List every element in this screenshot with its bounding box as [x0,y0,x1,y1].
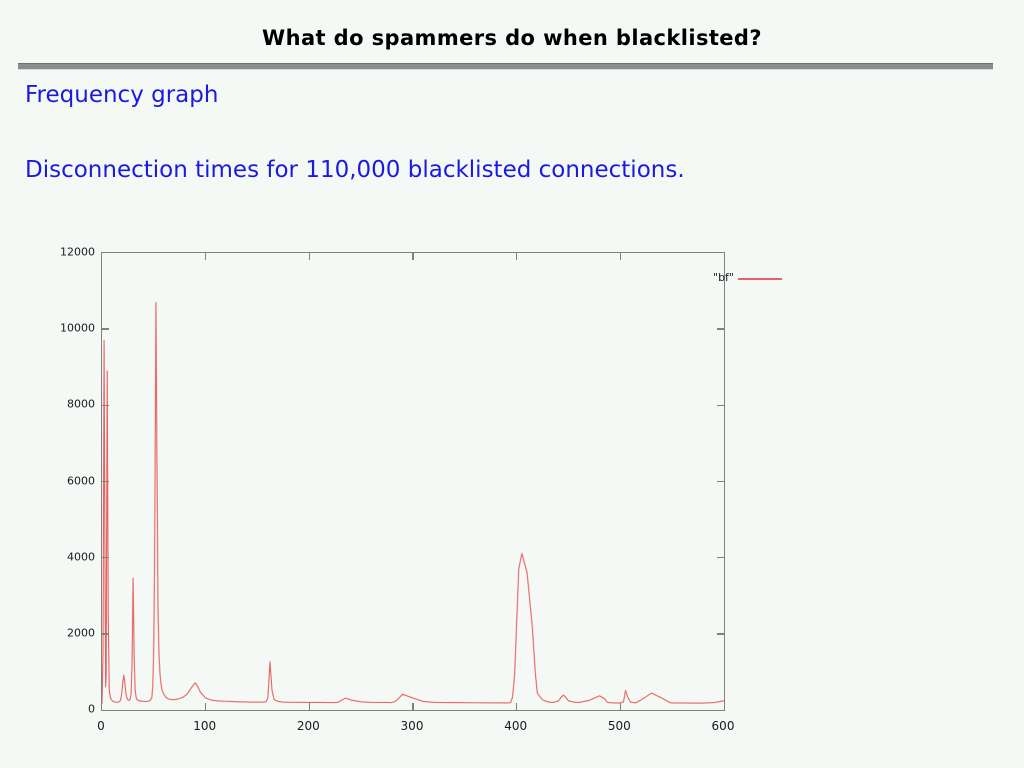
y-tick-label: 6000 [67,474,95,487]
x-tick-label: 300 [401,719,424,733]
y-axis-tick-labels: 020004000600080001000012000 [40,238,95,738]
y-tick-label: 10000 [60,322,95,335]
x-tick-mark [205,703,207,710]
x-tick-mark [516,703,518,710]
x-tick-mark [620,703,622,710]
x-tick-label: 500 [608,719,631,733]
x-tick-mark [412,703,414,710]
y-tick-mark [102,405,109,407]
title-divider [18,63,993,70]
y-tick-label: 0 [88,703,95,716]
x-tick-label: 100 [193,719,216,733]
slide-canvas: What do spammers do when blacklisted? Fr… [0,0,1024,768]
y-tick-label: 2000 [67,626,95,639]
page-title: What do spammers do when blacklisted? [0,26,1024,50]
x-tick-label: 600 [712,719,735,733]
x-tick-label: 0 [97,719,105,733]
y-tick-mark [717,557,724,559]
x-tick-mark [309,703,311,710]
legend-label-bf: "bf" [713,271,734,284]
y-tick-label: 8000 [67,398,95,411]
x-tick-mark [620,253,622,260]
y-tick-mark [102,328,109,330]
x-tick-mark [205,253,207,260]
y-tick-mark [717,405,724,407]
chart-legend: "bf" [662,271,782,287]
body-line-disconnection-times: Disconnection times for 110,000 blacklis… [25,157,685,183]
x-tick-label: 400 [504,719,527,733]
x-tick-mark [516,253,518,260]
plot-area: "bf" [101,252,725,711]
x-tick-label: 200 [297,719,320,733]
y-tick-label: 12000 [60,246,95,259]
y-tick-label: 4000 [67,550,95,563]
legend-line-swatch [738,278,782,280]
body-line-frequency-graph: Frequency graph [25,82,218,108]
y-tick-mark [717,481,724,483]
y-tick-mark [717,328,724,330]
y-tick-mark [102,557,109,559]
y-tick-mark [102,633,109,635]
y-tick-mark [102,481,109,483]
plot-series-canvas [102,253,724,710]
y-tick-mark [717,633,724,635]
x-tick-mark [309,253,311,260]
frequency-chart: 020004000600080001000012000 "bf" 0100200… [40,238,760,738]
x-tick-mark [412,253,414,260]
